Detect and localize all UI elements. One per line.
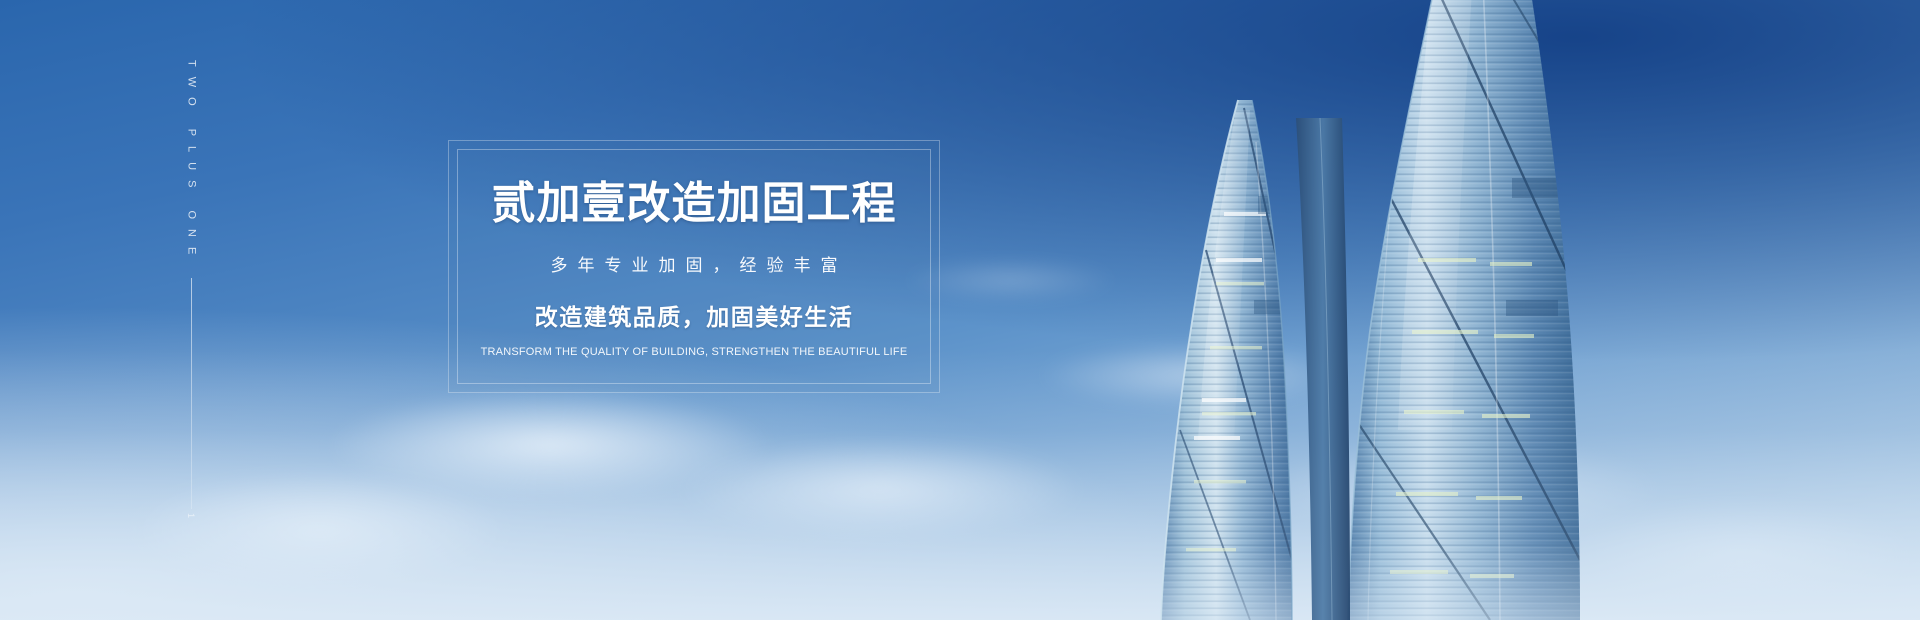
brand-mark: 1 xyxy=(186,513,196,520)
hero-banner: TWO PLUS ONE 1 贰加壹改造加固工程 多年专业加固，经验丰富 改造建… xyxy=(0,0,1920,620)
vertical-brand-text: TWO PLUS ONE xyxy=(186,60,197,264)
hero-tagline-english: TRANSFORM THE QUALITY OF BUILDING, STREN… xyxy=(481,346,908,358)
tower-right xyxy=(1340,0,1590,620)
cloud-bank xyxy=(60,450,580,610)
hero-text-card: 贰加壹改造加固工程 多年专业加固，经验丰富 改造建筑品质，加固美好生活 TRAN… xyxy=(448,140,940,393)
hero-tagline: 改造建筑品质，加固美好生活 xyxy=(535,298,854,332)
vertical-brand-strip: TWO PLUS ONE 1 xyxy=(178,60,204,520)
skyscraper-illustration xyxy=(1020,0,1920,620)
page-title: 贰加壹改造加固工程 xyxy=(492,181,897,227)
tower-left xyxy=(1150,90,1310,620)
hero-card-content: 贰加壹改造加固工程 多年专业加固，经验丰富 改造建筑品质，加固美好生活 TRAN… xyxy=(449,141,939,392)
tower-spine xyxy=(1296,118,1350,620)
hero-subtitle: 多年专业加固，经验丰富 xyxy=(541,251,848,276)
vertical-divider-line xyxy=(191,278,192,509)
